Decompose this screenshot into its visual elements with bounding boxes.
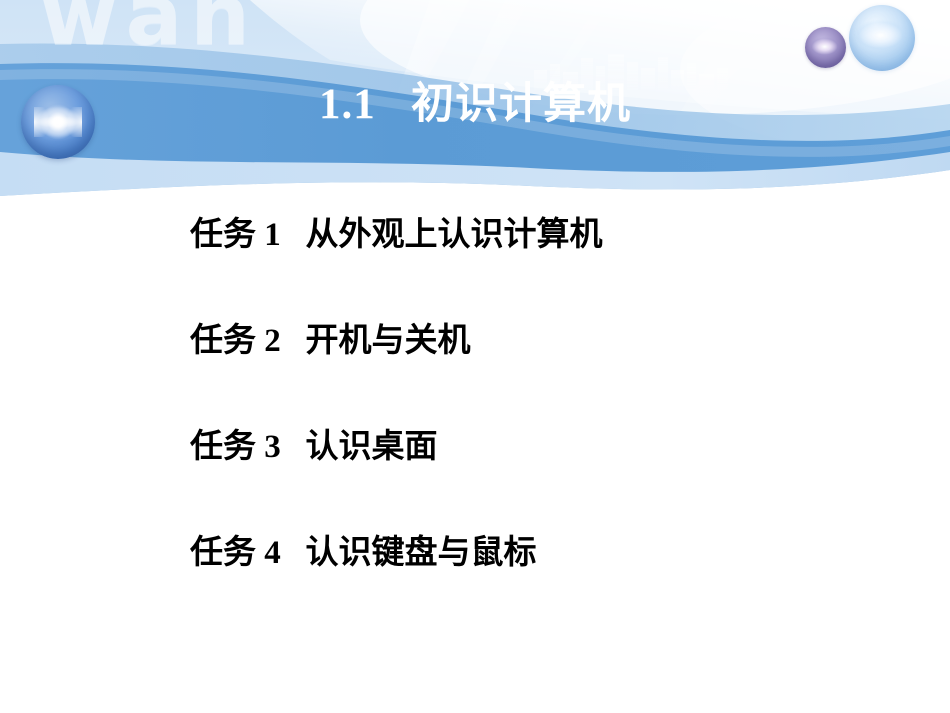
slide-body: 任务 1 从外观上认识计算机 任务 2 开机与关机 任务 3 认识桌面 任务 4… — [0, 200, 950, 713]
slide-header-banner: wan 1.1 初识计算机 — [0, 0, 950, 200]
page-title: 1.1 初识计算机 — [0, 83, 950, 126]
list-item[interactable]: 任务 2 开机与关机 — [190, 325, 471, 358]
list-item[interactable]: 任务 1 从外观上认识计算机 — [190, 219, 603, 252]
slide-canvas: wan 1.1 初识计算机 任务 1 从外观上认识计算机 任务 2 开机与关机 … — [0, 0, 950, 713]
list-item[interactable]: 任务 3 认识桌面 — [190, 431, 438, 464]
list-item[interactable]: 任务 4 认识键盘与鼠标 — [190, 537, 537, 570]
